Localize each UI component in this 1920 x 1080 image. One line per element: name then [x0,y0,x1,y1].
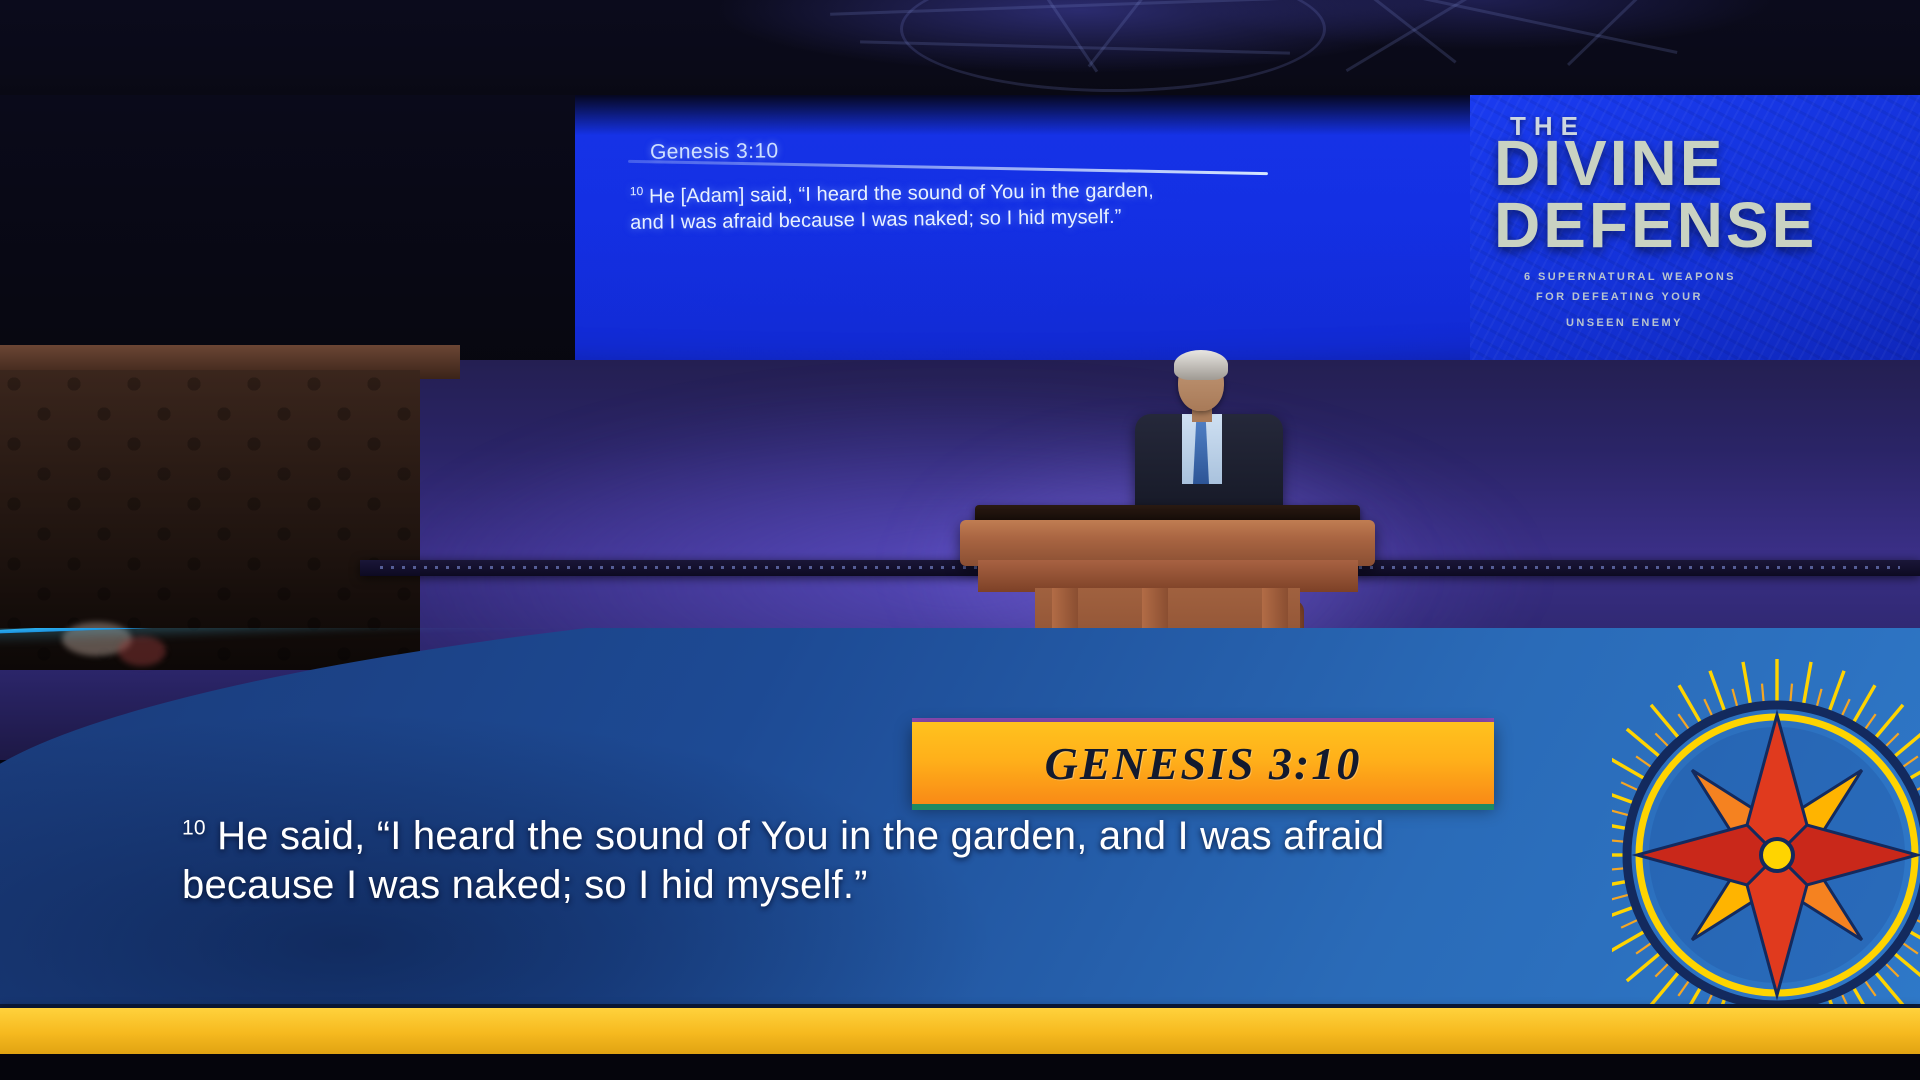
screen-verse-number: 10 [630,184,644,198]
scripture-caption: 10 He said, “I heard the sound of You in… [182,812,1492,910]
series-art-title-line-1: DIVINE [1494,133,1725,194]
series-art-title-line-2: DEFENSE [1494,195,1817,256]
screen-verse-line-2: and I was afraid because I was naked; so… [630,206,1122,234]
caption-line-2: because I was naked; so I hid myself.” [182,863,868,907]
caption-verse-number: 10 [182,817,206,840]
caption-line-1: He said, “I heard the sound of You in th… [217,814,1384,858]
speaker-hair [1174,350,1228,380]
logo-ray [1775,659,1778,707]
series-art-subtitle-2: FOR DEFEATING YOUR [1536,291,1703,303]
base-yellow-strip [0,1008,1920,1054]
reference-banner-label: GENESIS 3:10 [912,722,1494,804]
logo-center-hub [1761,839,1793,871]
compass-star-logo [1612,650,1920,1050]
screen-verse-text: 10 He [Adam] said, “I heard the sound of… [630,176,1271,237]
broadcast-frame: Genesis 3:10 10 He [Adam] said, “I heard… [0,0,1920,1080]
series-art-subtitle-1: 6 SUPERNATURAL WEAPONS [1524,271,1736,283]
stage-left-quatrefoil-wall [0,370,420,670]
reference-banner-bottom-edge [912,804,1494,810]
reference-banner: GENESIS 3:10 [912,722,1494,804]
quatrefoil-shadow [0,370,420,670]
base-black-strip [0,1054,1920,1080]
logo-ray [1801,662,1813,710]
series-art-subtitle-3: UNSEEN ENEMY [1566,317,1683,329]
screen-verse-line-1: He [Adam] said, “I heard the sound of Yo… [649,180,1154,208]
sermon-series-artwork: THE DIVINE DEFENSE 6 SUPERNATURAL WEAPON… [1470,95,1920,365]
logo-ray [1741,662,1753,710]
